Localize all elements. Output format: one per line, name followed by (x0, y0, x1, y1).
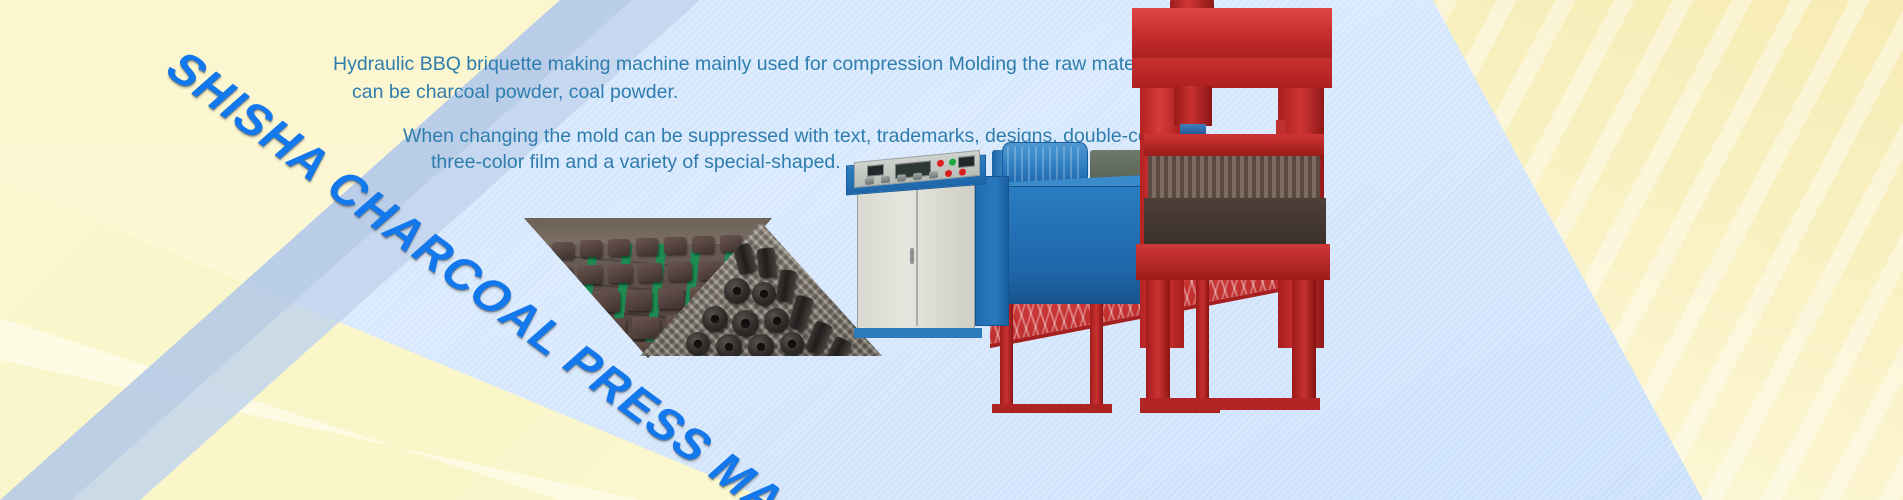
panel-knob-4[interactable] (913, 173, 922, 181)
cabinet-door-seam (916, 186, 918, 326)
press-leg-left (1146, 280, 1170, 410)
press-ram (1174, 86, 1212, 126)
panel-knob-5[interactable] (929, 171, 938, 179)
conveyor-foot-left (992, 404, 1112, 413)
press-base-beam (1136, 244, 1330, 280)
panel-knob-2[interactable] (881, 176, 890, 184)
mold-tray (1144, 198, 1326, 246)
panel-emergency-stop-button[interactable] (945, 170, 952, 178)
product-banner: SHISHA CHARCOAL PRESS MACHINE Hydraulic … (0, 0, 1903, 500)
panel-knob-3[interactable] (897, 174, 906, 182)
panel-led-red-1 (937, 159, 944, 167)
press-leg-right (1292, 280, 1316, 410)
panel-led-red-2 (959, 168, 966, 176)
panel-meter-right (958, 155, 975, 168)
conveyor-leg-middle (1090, 292, 1103, 410)
conveyor-leg-right (1196, 276, 1209, 410)
panel-knob-1[interactable] (865, 177, 874, 185)
description-line-4: three-color film and a variety of specia… (431, 147, 841, 177)
press-upper-plate (1144, 134, 1324, 156)
panel-led-green (949, 158, 956, 166)
cabinet-side-panel (975, 176, 1009, 326)
press-head-beam (1132, 8, 1332, 62)
cabinet-base (854, 328, 982, 338)
cabinet-door-handle[interactable] (910, 248, 914, 264)
panel-meter-left (867, 164, 884, 177)
press-cross-brace (1140, 398, 1320, 410)
description-line-2: can be charcoal powder, coal powder. (352, 77, 678, 107)
mold-die-teeth (1148, 156, 1320, 200)
press-head-lower-beam (1132, 58, 1332, 88)
hydraulic-charcoal-press-machine (840, 0, 1903, 500)
